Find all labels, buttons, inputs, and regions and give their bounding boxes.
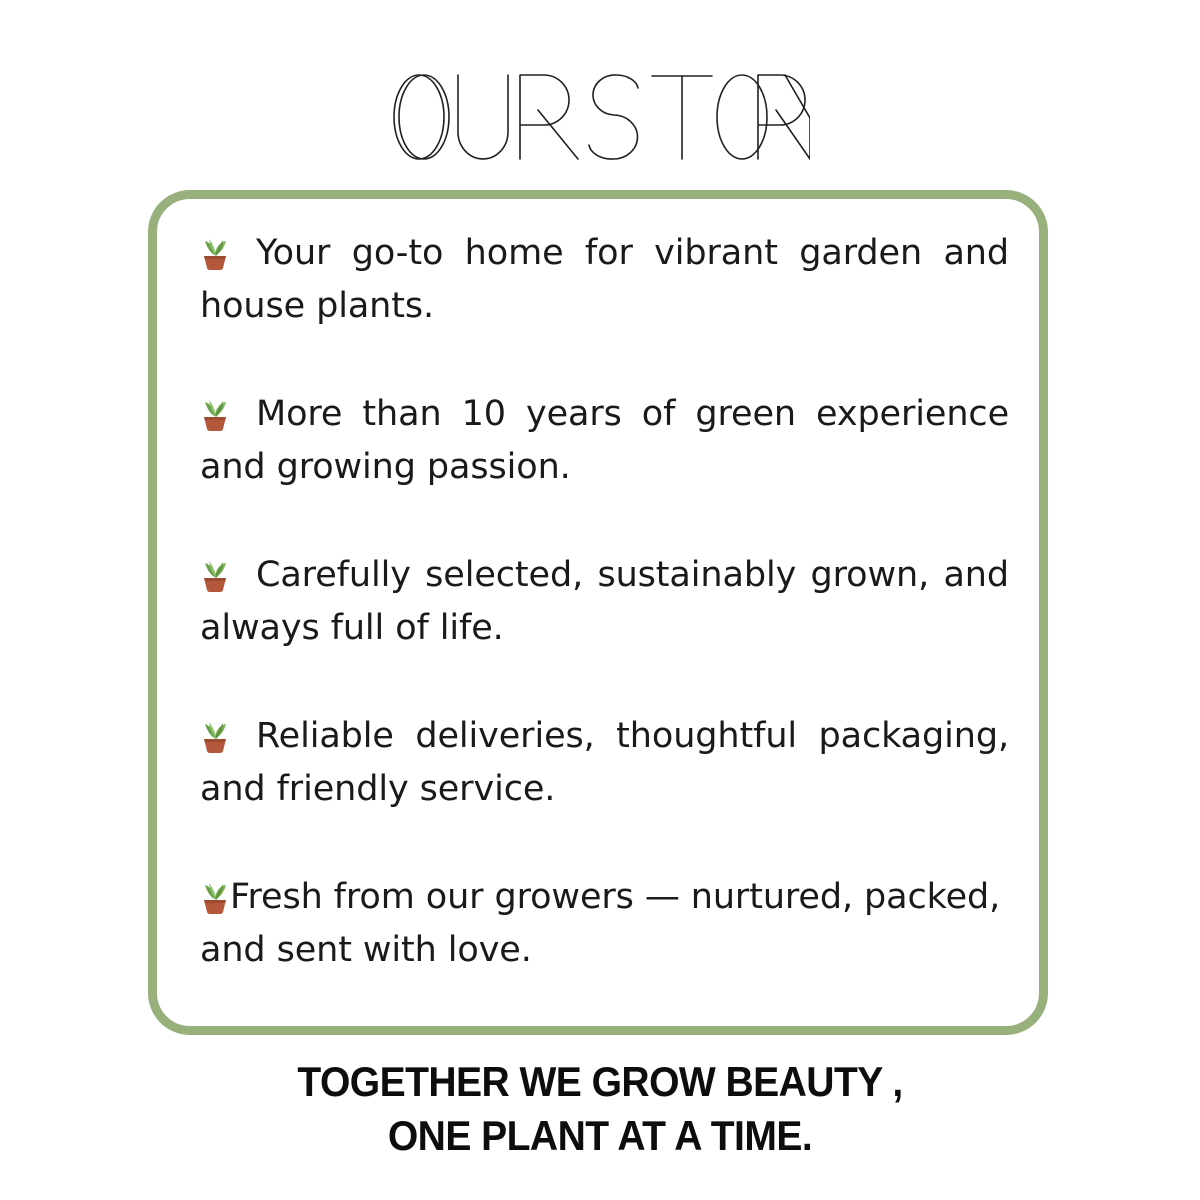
list-item-text: Your go-to home for vibrant garden and h… [200,233,1009,326]
footer-tagline: TOGETHER WE GROW BEAUTY , ONE PLANT AT A… [42,1055,1158,1163]
page-title-lettering [390,74,810,160]
page-title [0,62,1200,172]
list-item: Carefully selected, sustainably grown, a… [200,549,1009,655]
potted-plant-icon [200,395,230,429]
footer-tagline-line-1: TOGETHER WE GROW BEAUTY , [42,1055,1158,1109]
list-item: More than 10 years of green experience a… [200,388,1009,494]
potted-plant-icon [200,234,230,268]
list-item-text: Fresh from our growers — nurtured, packe… [200,877,1000,970]
footer-tagline-line-2: ONE PLANT AT A TIME. [42,1109,1158,1163]
list-item: Fresh from our growers — nurtured, packe… [200,871,1009,977]
list-item: Reliable deliveries, thoughtful packagin… [200,710,1009,816]
potted-plant-icon [200,556,230,590]
story-card: Your go-to home for vibrant garden and h… [148,190,1048,1035]
list-item-text: More than 10 years of green experience a… [200,394,1009,487]
potted-plant-icon [200,717,230,751]
list-item: Your go-to home for vibrant garden and h… [200,227,1009,333]
potted-plant-icon [200,878,230,912]
story-bullet-list: Your go-to home for vibrant garden and h… [200,227,1009,977]
list-item-text: Carefully selected, sustainably grown, a… [200,555,1009,648]
list-item-text: Reliable deliveries, thoughtful packagin… [200,716,1009,809]
